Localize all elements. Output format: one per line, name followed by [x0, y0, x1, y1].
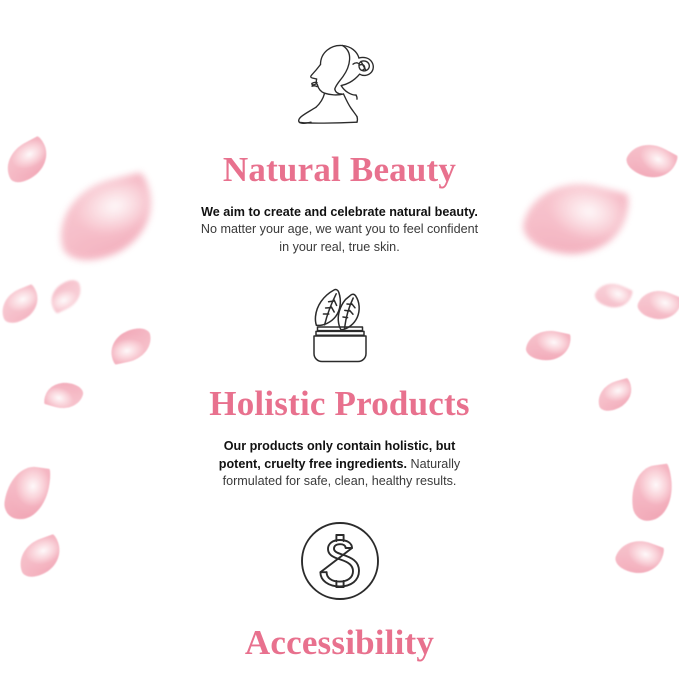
feature-title: Accessibility: [245, 625, 434, 660]
woman-profile-with-flower-icon: [290, 34, 390, 131]
brand-values-page: Natural Beauty We aim to create and cele…: [0, 0, 679, 679]
dollar-sign-circle-icon: [297, 518, 383, 609]
feature-accessibility: Accessibility Quality skincare products …: [0, 518, 679, 679]
feature-title: Natural Beauty: [223, 152, 456, 187]
features-column: Natural Beauty We aim to create and cele…: [0, 0, 679, 679]
cream-jar-with-leaves-icon: [290, 283, 390, 370]
feature-description: Our products only contain holistic, but …: [205, 438, 475, 490]
feature-description: We aim to create and celebrate natural b…: [198, 204, 482, 256]
feature-natural-beauty: Natural Beauty We aim to create and cele…: [0, 34, 679, 256]
feature-description-lead: We aim to create and celebrate natural b…: [201, 205, 478, 219]
feature-holistic-products: Holistic Products Our products only cont…: [0, 283, 679, 490]
feature-description-rest: No matter your age, we want you to feel …: [201, 222, 478, 253]
feature-title: Holistic Products: [209, 386, 469, 421]
